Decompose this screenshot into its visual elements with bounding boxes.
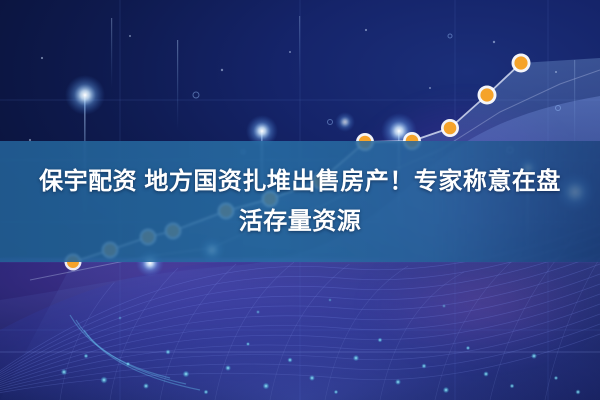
headline-line-1: 保宇配资 地方国资扎堆出售房产！专家称意在盘 <box>39 162 561 202</box>
thumbnail-canvas: 保宇配资 地方国资扎堆出售房产！专家称意在盘 活存量资源 <box>0 0 600 400</box>
headline-line-2: 活存量资源 <box>239 202 362 242</box>
headline-banner: 保宇配资 地方国资扎堆出售房产！专家称意在盘 活存量资源 <box>0 141 600 262</box>
